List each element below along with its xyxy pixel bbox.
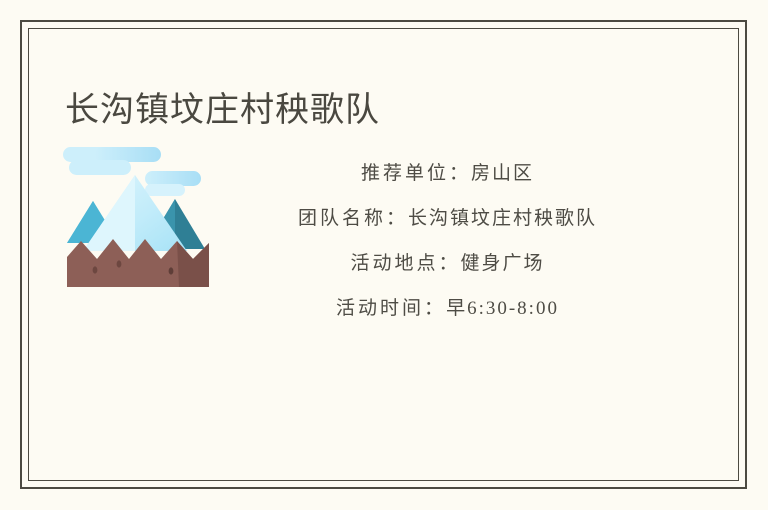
team-details: 推荐单位：房山区 团队名称：长沟镇坟庄村秧歌队 活动地点：健身广场 活动时间：早…: [227, 139, 738, 331]
rock-dot-1: [93, 266, 98, 273]
info-card: 长沟镇坟庄村秧歌队: [20, 20, 747, 489]
detail-value-location: 健身广场: [461, 253, 545, 274]
detail-label-time: 活动时间：: [336, 298, 446, 319]
detail-row-location: 活动地点：健身广场: [227, 241, 668, 286]
card-content: 推荐单位：房山区 团队名称：长沟镇坟庄村秧歌队 活动地点：健身广场 活动时间：早…: [29, 139, 738, 331]
info-card-inner-border: 长沟镇坟庄村秧歌队: [28, 28, 739, 481]
rock-dot-3: [169, 267, 174, 274]
detail-label-team-name: 团队名称：: [298, 208, 408, 229]
detail-label-location: 活动地点：: [350, 253, 460, 274]
cloud-bar-5: [145, 184, 185, 196]
page-title: 长沟镇坟庄村秧歌队: [65, 88, 380, 132]
cloud-bar-4: [145, 171, 201, 186]
snow-mountain-icon: [59, 139, 219, 299]
cloud-bar-2: [95, 147, 161, 162]
rock-dot-2: [117, 260, 122, 267]
detail-row-time: 活动时间：早6:30-8:00: [227, 286, 668, 331]
detail-value-time: 早6:30-8:00: [446, 298, 559, 319]
detail-row-team-name: 团队名称：长沟镇坟庄村秧歌队: [227, 196, 668, 241]
snow-mountain-illustration: [59, 139, 219, 299]
detail-value-recommender: 房山区: [471, 163, 534, 184]
detail-label-recommender: 推荐单位：: [361, 163, 471, 184]
cloud-bar-3: [69, 160, 131, 175]
detail-value-team-name: 长沟镇坟庄村秧歌队: [408, 208, 597, 229]
detail-row-recommender: 推荐单位：房山区: [227, 151, 668, 196]
